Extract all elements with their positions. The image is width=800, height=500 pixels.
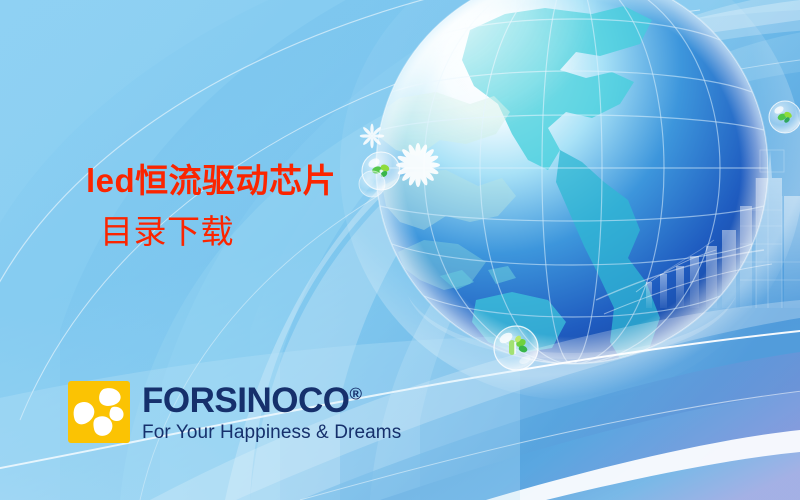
- bubble-green-sprout: [494, 326, 538, 370]
- promo-banner: led恒流驱动芯片 目录下载 FORSINOCO®: [0, 0, 800, 500]
- headline-block: led恒流驱动芯片 目录下载: [86, 162, 336, 253]
- logo-text-block: FORSINOCO® For Your Happiness & Dreams: [142, 383, 401, 442]
- logo-wordmark: FORSINOCO®: [142, 383, 401, 418]
- bubble-accent-headline: [359, 171, 385, 197]
- bubble-green-pinwheel: [362, 152, 400, 190]
- registered-trademark-icon: ®: [349, 384, 362, 403]
- logo-wordmark-text: FORSINOCO: [142, 381, 349, 420]
- headline-line-2: 目录下载: [86, 214, 336, 253]
- white-flower-small: [360, 124, 385, 149]
- city-skyline-silhouette: [646, 150, 800, 308]
- forsinoco-pinwheel-mark: [68, 381, 130, 443]
- headline-line-1: led恒流驱动芯片: [86, 162, 336, 201]
- white-flower-large: [396, 143, 440, 187]
- logo-tagline: For Your Happiness & Dreams: [142, 423, 401, 442]
- bubble-globe-small: [769, 101, 800, 133]
- light-streaks: [596, 250, 772, 314]
- earth-globe: [314, 0, 800, 400]
- forsinoco-logo: FORSINOCO® For Your Happiness & Dreams: [68, 381, 401, 443]
